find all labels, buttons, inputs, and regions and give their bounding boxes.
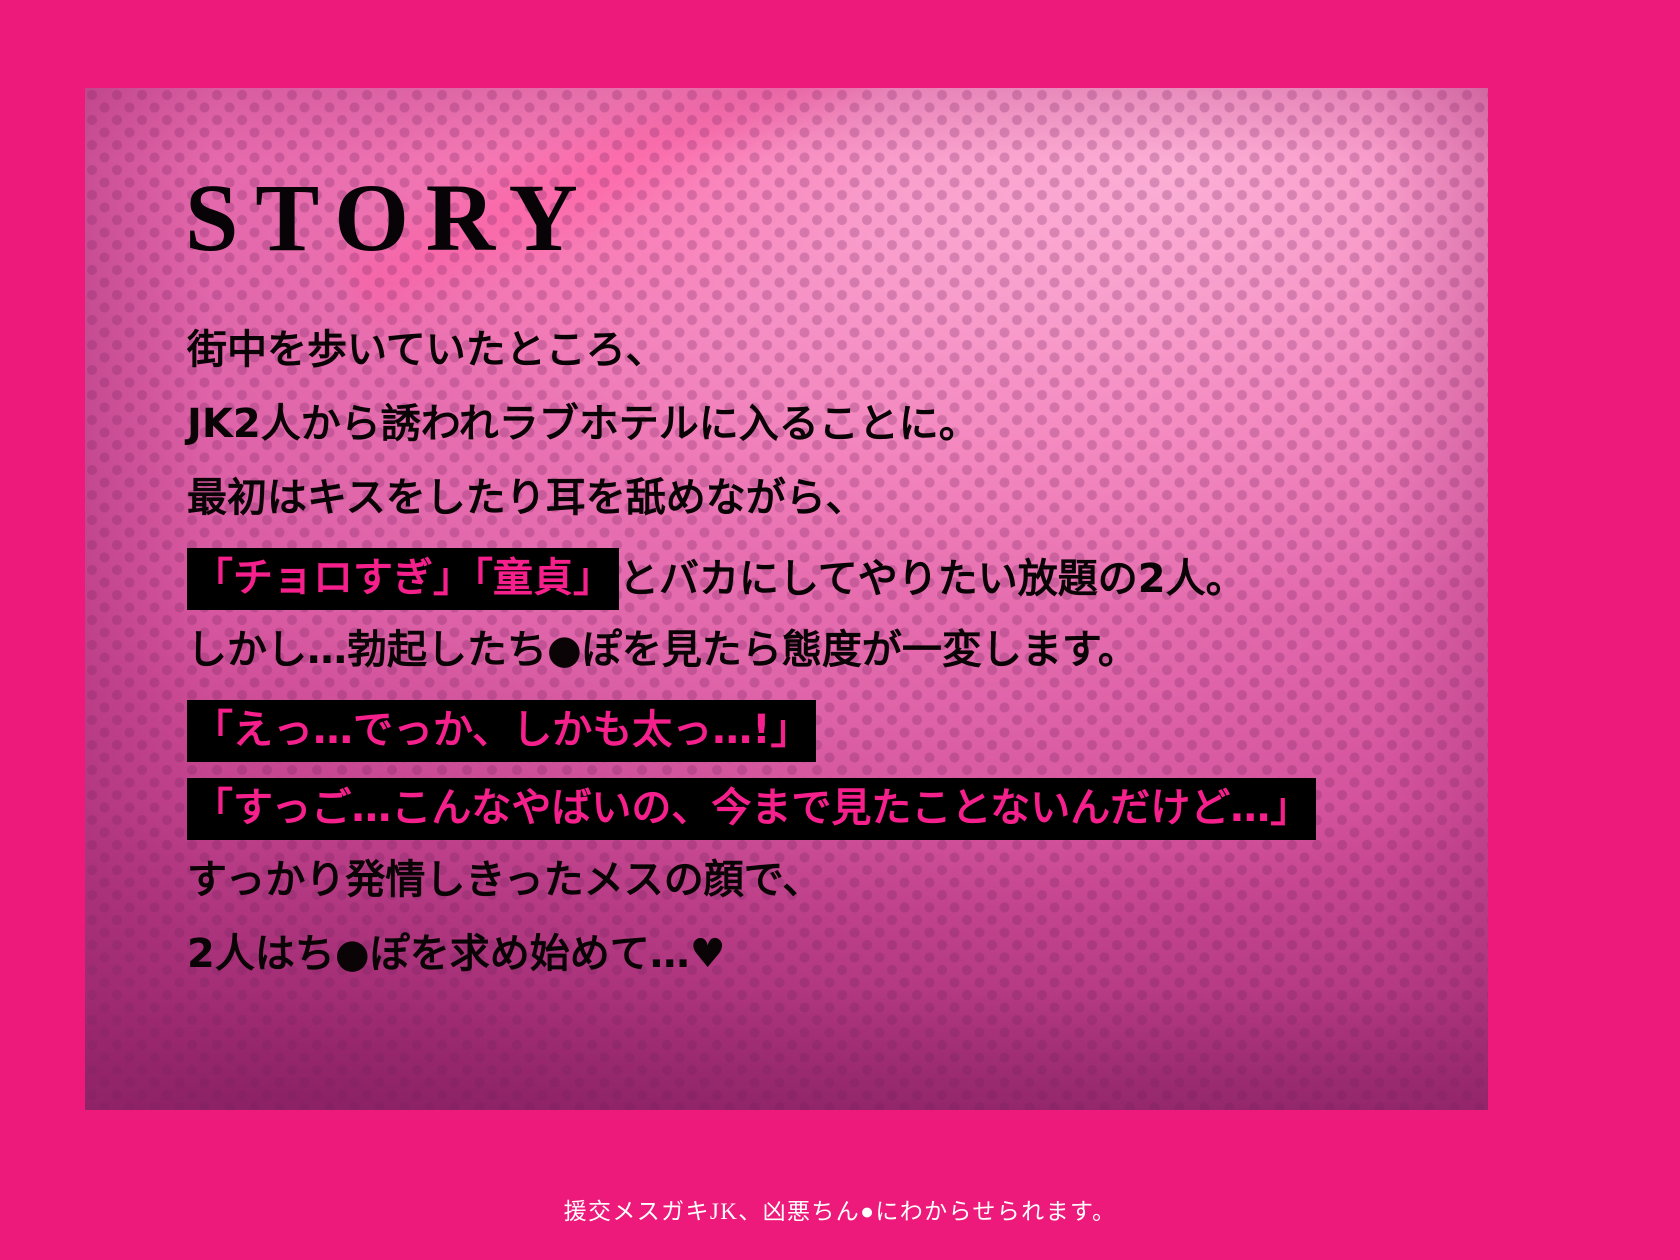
story-line: 2人はち●ぽを求め始めて…♥ — [187, 930, 1467, 978]
highlighted-quote: 「すっご…こんなやばいの、今まで見たことないんだけど…」 — [187, 778, 1316, 840]
card-content: STORY 街中を歩いていたところ、JK2人から誘われラブホテルに入ることに。最… — [85, 88, 1488, 1110]
story-text: 最初はキスをしたり耳を舐めながら、 — [187, 478, 866, 518]
story-line: 「チョロすぎ」「童貞」とバカにしてやりたい放題の2人。 — [187, 548, 1467, 610]
page-background: STORY 街中を歩いていたところ、JK2人から誘われラブホテルに入ることに。最… — [0, 0, 1680, 1260]
page-title: STORY — [185, 170, 595, 266]
highlighted-quote: 「チョロすぎ」「童貞」 — [187, 548, 619, 610]
story-line: しかし…勃起したち●ぽを見たら態度が一変します。 — [187, 626, 1467, 674]
story-line: 最初はキスをしたり耳を舐めながら、 — [187, 474, 1467, 522]
story-text-block: 街中を歩いていたところ、JK2人から誘われラブホテルに入ることに。最初はキスをし… — [187, 326, 1467, 1004]
story-line: 「えっ…でっか、しかも太っ…!」 — [187, 700, 1467, 762]
highlighted-quote: 「えっ…でっか、しかも太っ…!」 — [187, 700, 816, 762]
story-text: すっかり発情しきったメスの顔で、 — [187, 860, 822, 900]
story-text: とバカにしてやりたい放題の2人。 — [619, 559, 1246, 599]
story-text: 街中を歩いていたところ、 — [187, 330, 666, 370]
story-text: JK2人から誘われラブホテルに入ることに。 — [187, 404, 979, 444]
story-line: 「すっご…こんなやばいの、今まで見たことないんだけど…」 — [187, 778, 1467, 840]
story-text: 2人はち●ぽを求め始めて…♥ — [187, 934, 726, 974]
footer-caption: 援交メスガキJK、凶悪ちん●にわからせられます。 — [0, 1192, 1680, 1226]
story-line: すっかり発情しきったメスの顔で、 — [187, 856, 1467, 904]
story-text: しかし…勃起したち●ぽを見たら態度が一変します。 — [187, 630, 1138, 670]
story-card: STORY 街中を歩いていたところ、JK2人から誘われラブホテルに入ることに。最… — [85, 88, 1488, 1110]
story-line: JK2人から誘われラブホテルに入ることに。 — [187, 400, 1467, 448]
story-line: 街中を歩いていたところ、 — [187, 326, 1467, 374]
